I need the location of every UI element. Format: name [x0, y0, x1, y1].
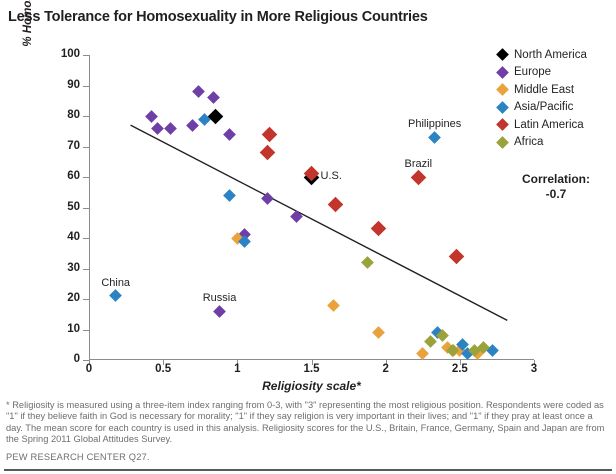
x-axis-title: Religiosity scale*: [89, 379, 534, 393]
legend-item-north-america[interactable]: North America: [498, 46, 616, 64]
legend-item-africa[interactable]: Africa: [498, 134, 616, 152]
correlation-value: -0.7: [497, 187, 615, 202]
legend-marker-icon: [496, 101, 509, 114]
legend-marker-icon: [496, 66, 509, 79]
legend-label: Latin America: [514, 119, 584, 131]
chart-container: Less Tolerance for Homosexuality in More…: [0, 0, 616, 474]
y-axis-title-wrap: % Homosexuality should be accepted by so…: [34, 58, 50, 358]
chart-title: Less Tolerance for Homosexuality in More…: [8, 9, 608, 25]
x-tick-label: 1: [217, 363, 257, 375]
legend-item-europe[interactable]: Europe: [498, 64, 616, 82]
correlation-annotation: Correlation: -0.7: [497, 172, 615, 202]
legend-item-latin-america[interactable]: Latin America: [498, 116, 616, 134]
x-tick-label: 2.5: [440, 363, 480, 375]
legend: North AmericaEuropeMiddle EastAsia/Pacif…: [498, 46, 616, 151]
point-label: Philippines: [408, 118, 461, 130]
legend-label: Asia/Pacific: [514, 101, 573, 113]
legend-label: Europe: [514, 66, 551, 78]
point-label: China: [101, 277, 130, 289]
legend-item-middle-east[interactable]: Middle East: [498, 81, 616, 99]
x-tick-label: 1.5: [292, 363, 332, 375]
correlation-label: Correlation:: [497, 172, 615, 187]
plot-area: U.S.RussiaChinaPhilippinesBrazil: [89, 55, 534, 360]
footnote: * Religiosity is measured using a three-…: [6, 400, 610, 446]
x-tick-label: 0: [69, 363, 109, 375]
legend-marker-icon: [496, 83, 509, 96]
x-tick-label: 3: [514, 363, 554, 375]
y-axis-title: % Homosexuality should be accepted by so…: [22, 0, 35, 64]
legend-label: Middle East: [514, 84, 574, 96]
legend-label: Africa: [514, 136, 543, 148]
point-label: Russia: [203, 292, 237, 304]
legend-item-asia-pacific[interactable]: Asia/Pacific: [498, 99, 616, 117]
legend-marker-icon: [496, 48, 509, 61]
bottom-rule: [4, 469, 612, 471]
trendline: [89, 55, 534, 360]
point-label: U.S.: [321, 170, 342, 182]
legend-label: North America: [514, 49, 587, 61]
legend-marker-icon: [496, 136, 509, 149]
source-note: PEW RESEARCH CENTER Q27.: [6, 452, 150, 462]
x-tick-label: 2: [366, 363, 406, 375]
x-tick-label: 0.5: [143, 363, 183, 375]
legend-marker-icon: [496, 118, 509, 131]
point-label: Brazil: [405, 158, 433, 170]
